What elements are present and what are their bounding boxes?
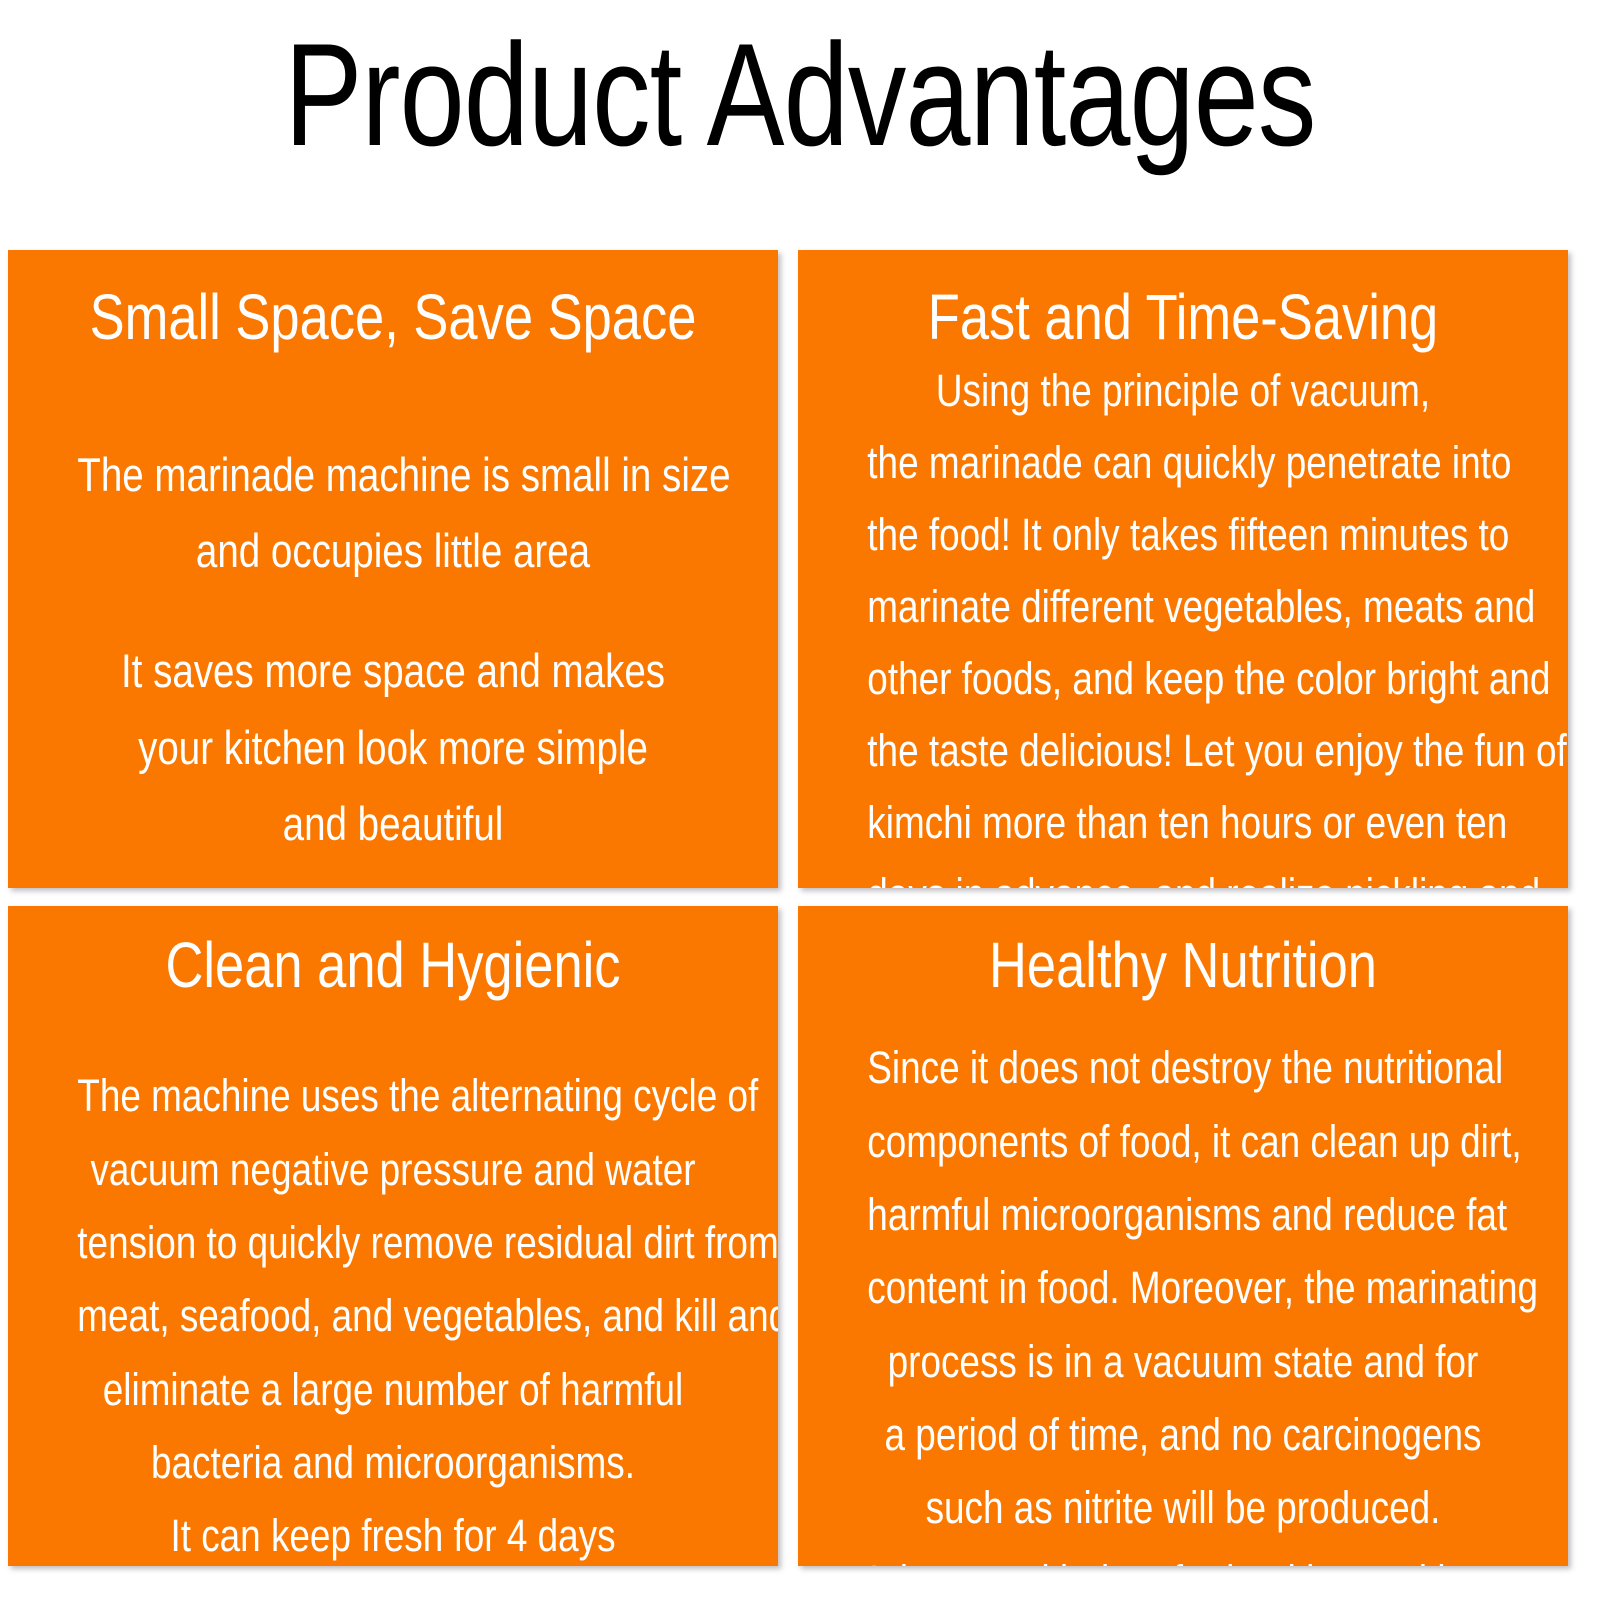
panel-line: harmful microorganisms and reduce fat [867,1178,1498,1251]
panel-line: the taste delicious! Let you enjoy the f… [867,715,1498,787]
panel-body-fast-time-saving: Using the principle of vacuum, the marin… [867,355,1498,888]
panel-line: vacuum negative pressure and water [77,1133,708,1206]
panel-line: tension to quickly remove residual dirt … [77,1206,708,1279]
advantage-panel-fast-time-saving: Fast and Time-Saving Using the principle… [798,250,1568,888]
panel-line: eliminate a large number of harmful [77,1353,708,1426]
panel-line: The machine uses the alternating cycle o… [77,1059,708,1132]
panel-line: a period of time, and no carcinogens [867,1398,1498,1471]
panel-line: process is in a vacuum state and for [867,1325,1498,1398]
page-title: Product Advantages [160,22,1440,168]
slide-root: Product Advantages Small Space, Save Spa… [0,0,1600,1600]
panel-line: components of food, it can clean up dirt… [867,1105,1498,1178]
panel-paragraph: Since it does not destroy the nutritiona… [867,1031,1498,1566]
panel-paragraph: The marinade machine is small in size an… [77,437,708,589]
panel-heading-clean-hygienic: Clean and Hygienic [77,932,708,999]
panel-line: and occupies little area [77,513,708,589]
panel-line: It is a good helper for healthy nutritio… [867,1545,1498,1566]
panel-line: other foods, and keep the color bright a… [867,643,1498,715]
advantage-panel-small-space: Small Space, Save Space The marinade mac… [8,250,778,888]
panel-line: marinate different vegetables, meats and [867,571,1498,643]
panel-body-small-space: The marinade machine is small in size an… [77,437,708,862]
advantage-panel-clean-hygienic: Clean and Hygienic The machine uses the … [8,906,778,1566]
panel-paragraph: The machine uses the alternating cycle o… [77,1059,708,1566]
advantage-panel-healthy-nutrition: Healthy Nutrition Since it does not dest… [798,906,1568,1566]
panel-heading-healthy-nutrition: Healthy Nutrition [867,932,1498,999]
panel-heading-fast-time-saving: Fast and Time-Saving [867,284,1498,351]
panel-heading-small-space: Small Space, Save Space [77,284,708,351]
panel-body-clean-hygienic: The machine uses the alternating cycle o… [77,1059,708,1566]
panel-line: It saves more space and makes [77,633,708,709]
panel-line: and beautiful [77,786,708,862]
panel-line: Using the principle of vacuum, [867,355,1498,427]
panel-line: such as nitrite will be produced. [867,1471,1498,1544]
panel-line: the food! It only takes fifteen minutes … [867,499,1498,571]
panel-paragraph: It saves more space and makes your kitch… [77,633,708,861]
panel-line: The marinade machine is small in size [77,437,708,513]
panel-body-healthy-nutrition: Since it does not destroy the nutritiona… [867,1031,1498,1566]
panel-line: meat, seafood, and vegetables, and kill … [77,1279,708,1352]
panel-line: content in food. Moreover, the marinatin… [867,1251,1498,1324]
panel-line: It can keep fresh for 4 days [77,1499,708,1566]
panel-paragraph: Using the principle of vacuum, the marin… [867,355,1498,888]
advantages-grid: Small Space, Save Space The marinade mac… [8,250,1586,1566]
panel-line: the marinade can quickly penetrate into [867,427,1498,499]
paragraph-spacer [77,589,708,633]
panel-line: bacteria and microorganisms. [77,1426,708,1499]
panel-line: days in advance, and realize pickling an… [867,859,1498,888]
panel-line: Since it does not destroy the nutritiona… [867,1031,1498,1104]
panel-line: your kitchen look more simple [77,710,708,786]
panel-line: kimchi more than ten hours or even ten [867,787,1498,859]
